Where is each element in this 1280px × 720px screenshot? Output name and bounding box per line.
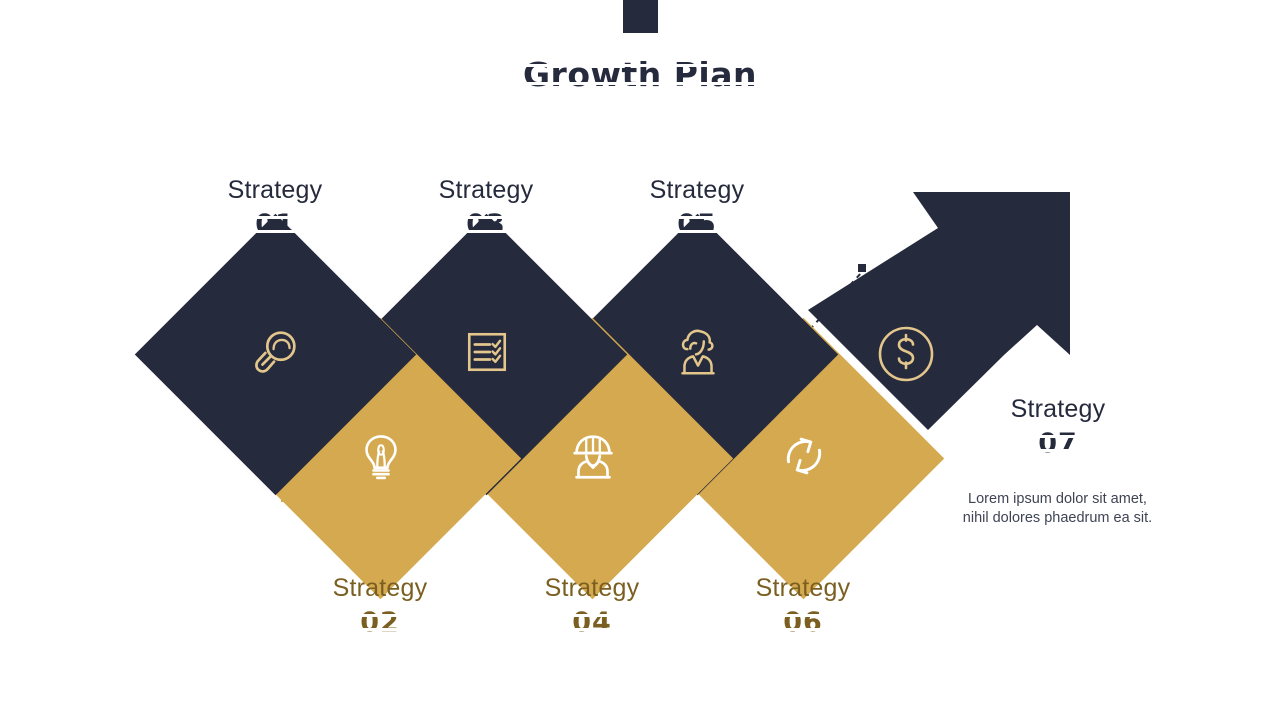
- label-step-01-number: 01: [165, 211, 385, 238]
- label-step-03-word: Strategy: [376, 178, 596, 203]
- body-copy-line-1: Lorem ipsum dolor sit amet,: [930, 490, 1185, 509]
- label-step-04-number: 04: [482, 609, 702, 636]
- label-step-05-number: 05: [587, 211, 807, 238]
- label-step-01-word: Strategy: [165, 178, 385, 203]
- label-step-05-word: Strategy: [587, 178, 807, 203]
- label-step-03-number: 03: [376, 211, 596, 238]
- label-step-06-number: 06: [693, 609, 913, 636]
- slide-canvas: Growth Plan: [0, 0, 1280, 720]
- label-step-03: Strategy 03: [376, 178, 596, 238]
- label-step-04-word: Strategy: [482, 576, 702, 601]
- label-step-07-number: 07: [948, 430, 1168, 457]
- label-step-06-word: Strategy: [693, 576, 913, 601]
- label-step-02-number: 02: [270, 609, 490, 636]
- label-step-05: Strategy 05: [587, 178, 807, 238]
- label-step-02: Strategy 02: [270, 576, 490, 636]
- label-step-06: Strategy 06: [693, 576, 913, 636]
- diamond-step-01[interactable]: [135, 214, 416, 495]
- body-copy: Lorem ipsum dolor sit amet, nihil dolore…: [930, 490, 1185, 528]
- page-title: Growth Plan: [0, 55, 1280, 94]
- label-step-01: Strategy 01: [165, 178, 385, 238]
- label-step-07-word: Strategy: [948, 397, 1168, 422]
- page-title-text: Growth Plan: [523, 55, 757, 94]
- label-step-07: Strategy 07: [948, 397, 1168, 457]
- body-copy-line-2: nihil dolores phaedrum ea sit.: [930, 509, 1185, 528]
- magnifier-icon: [247, 323, 305, 386]
- top-tab-marker: [623, 0, 658, 33]
- label-step-02-word: Strategy: [270, 576, 490, 601]
- label-step-04: Strategy 04: [482, 576, 702, 636]
